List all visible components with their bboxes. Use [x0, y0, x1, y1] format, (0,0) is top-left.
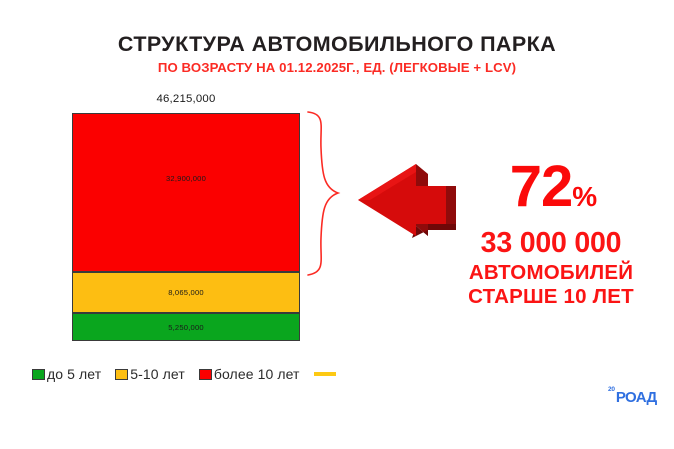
- callout-big-number: 33 000 000: [437, 227, 665, 260]
- curly-brace-icon: [300, 108, 346, 280]
- legend-item-unlabeled[interactable]: [314, 372, 338, 376]
- bar-segment-5-to-10-years[interactable]: 8,065,000: [72, 272, 300, 313]
- bar-segment-under-5-years[interactable]: 5,250,000: [72, 313, 300, 341]
- legend-label: 5-10 лет: [130, 366, 185, 382]
- chart-legend: до 5 лет 5-10 лет более 10 лет: [32, 366, 338, 382]
- page-subtitle: ПО ВОЗРАСТУ НА 01.12.2025Г., ЕД. (ЛЕГКОВ…: [0, 60, 674, 75]
- chart-total-label: 46,215,000: [72, 93, 300, 105]
- bar-segment-label: 8,065,000: [168, 288, 204, 297]
- slide-canvas: СТРУКТУРА АВТОМОБИЛЬНОГО ПАРКА ПО ВОЗРАС…: [0, 0, 674, 449]
- legend-label: более 10 лет: [214, 366, 300, 382]
- bar-segment-over-10-years[interactable]: 32,900,000: [72, 113, 300, 272]
- percent-callout: 72%: [446, 158, 661, 216]
- logo-superscript: 20: [608, 386, 615, 393]
- legend-label: до 5 лет: [47, 366, 101, 382]
- logo-text: РОАД: [616, 390, 657, 405]
- percent-value: 72: [510, 154, 573, 219]
- callout-caption-line-1: АВТОМОБИЛЕЙ: [437, 261, 665, 285]
- legend-item-5-to-10-years[interactable]: 5-10 лет: [115, 366, 185, 382]
- legend-swatch-icon: [32, 369, 45, 380]
- legend-swatch-icon: [199, 369, 212, 380]
- legend-swatch-icon: [115, 369, 128, 380]
- page-title: СТРУКТУРА АВТОМОБИЛЬНОГО ПАРКА: [0, 32, 674, 57]
- legend-line-icon: [314, 372, 336, 376]
- stacked-bar-chart: 32,900,000 8,065,000 5,250,000: [72, 113, 300, 341]
- percent-sign: %: [572, 181, 597, 212]
- brand-logo: 20 РОАД: [608, 386, 657, 405]
- legend-item-under-5-years[interactable]: до 5 лет: [32, 366, 101, 382]
- bar-segment-label: 5,250,000: [168, 323, 204, 332]
- callout-caption-line-2: СТАРШЕ 10 ЛЕТ: [437, 285, 665, 309]
- bar-segment-label: 32,900,000: [166, 174, 206, 183]
- legend-item-over-10-years[interactable]: более 10 лет: [199, 366, 300, 382]
